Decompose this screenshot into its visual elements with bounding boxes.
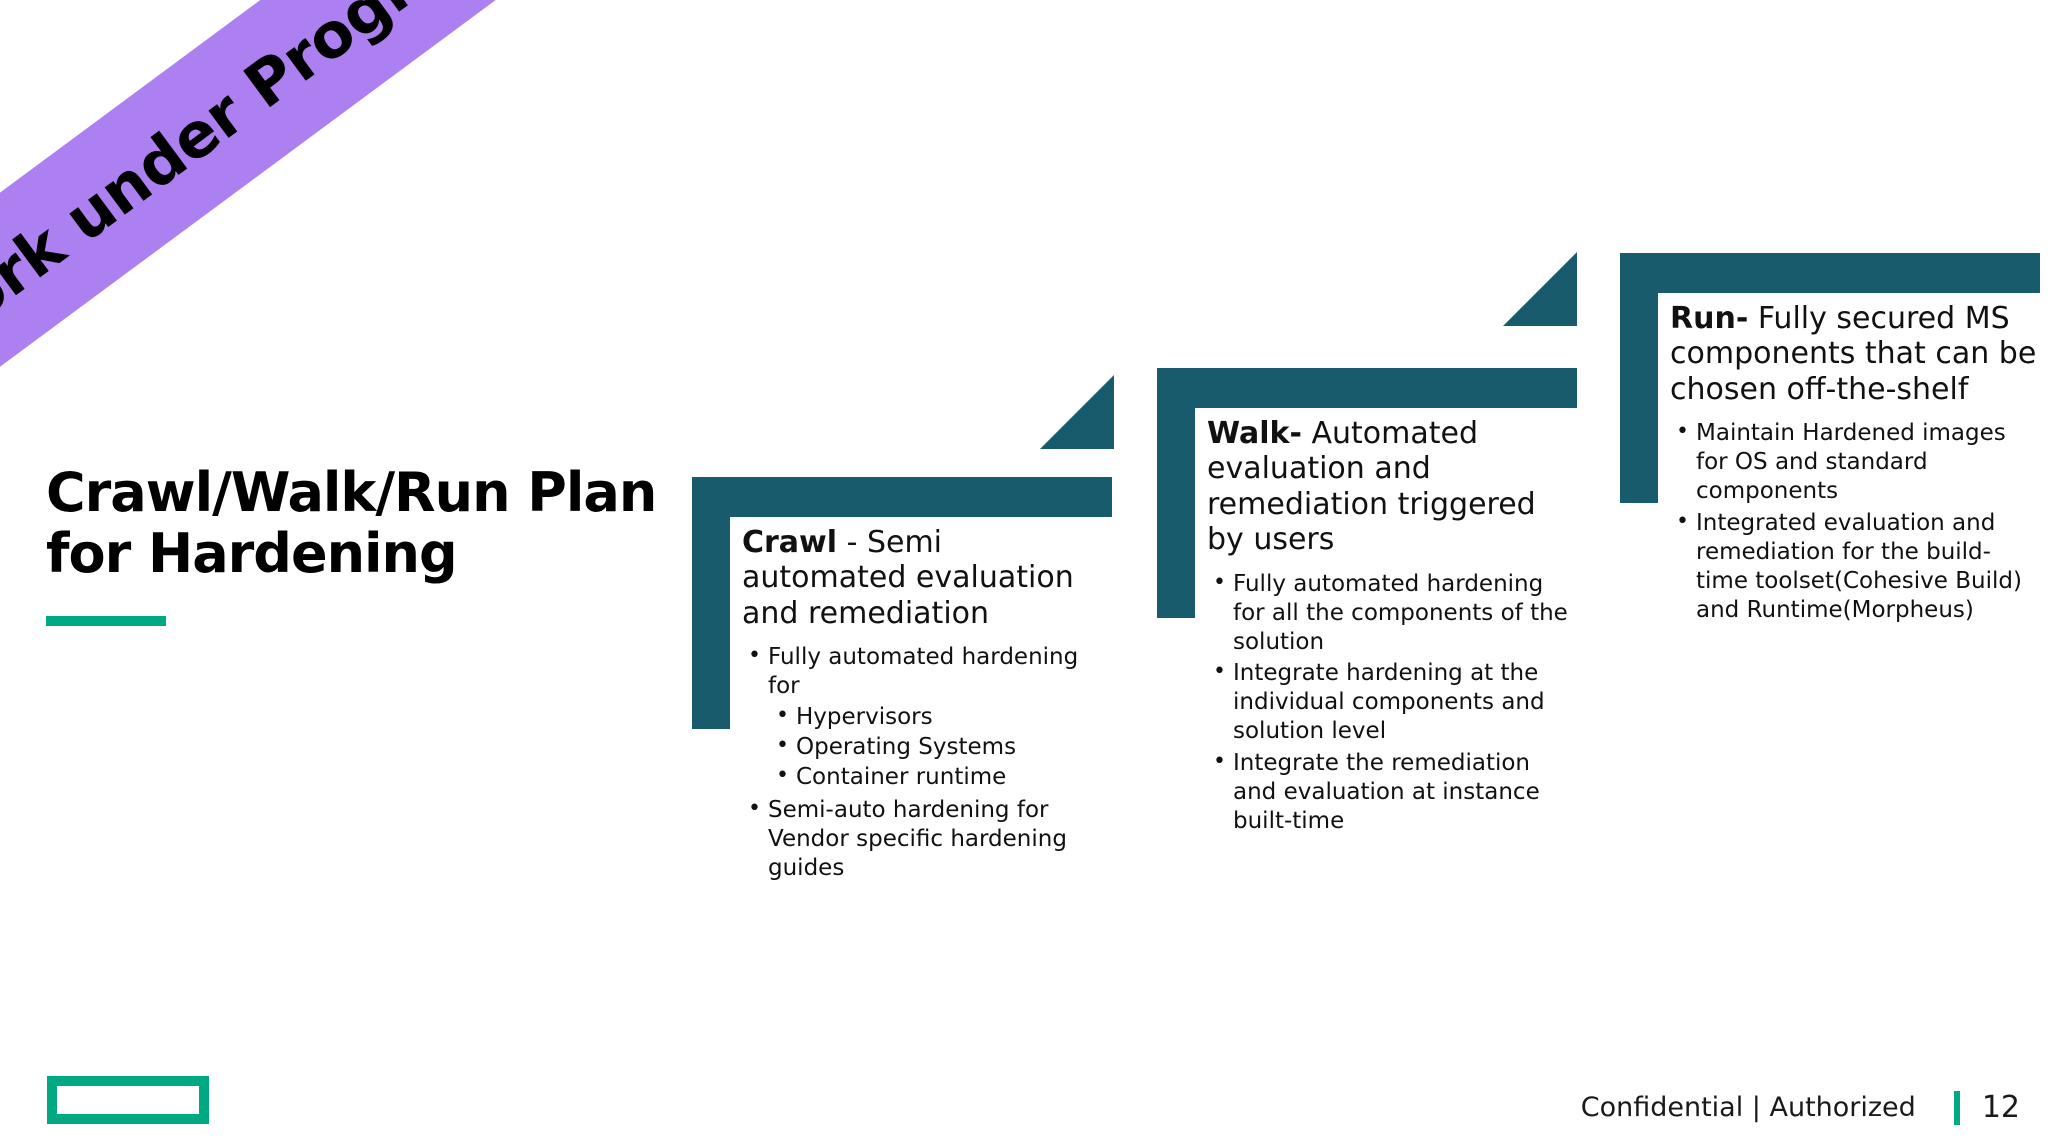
step-triangle-crawl-to-walk — [1040, 375, 1114, 449]
stage-card-crawl[interactable]: Crawl - Semi automated evaluation and re… — [692, 477, 1112, 797]
walk-bracket-top — [1157, 368, 1577, 408]
run-bracket-arm — [1620, 253, 1658, 503]
crawl-bullet-1: Fully automated hardening for Hypervisor… — [742, 643, 1112, 793]
run-body: Run- Fully secured MS components that ca… — [1670, 301, 2040, 628]
walk-heading: Walk- Automated evaluation and remediati… — [1207, 416, 1577, 558]
footer: Confidential | Authorized 12 — [1581, 1090, 2020, 1125]
hpe-logo — [47, 1076, 209, 1124]
page-title: Crawl/Walk/Run Plan for Hardening — [46, 462, 666, 584]
walk-bullet-1: Fully automated hardening for all the co… — [1207, 570, 1577, 657]
crawl-sublist: Hypervisors Operating Systems Container … — [768, 703, 1112, 793]
run-bullet-list: Maintain Hardened images for OS and stan… — [1670, 419, 2040, 625]
title-block: Crawl/Walk/Run Plan for Hardening — [46, 462, 666, 626]
run-bracket-top — [1620, 253, 2040, 293]
walk-heading-bold: Walk- — [1207, 416, 1302, 451]
crawl-bullet-1-text: Fully automated hardening for — [768, 644, 1078, 699]
step-triangle-walk-to-run — [1503, 252, 1577, 326]
crawl-bracket-top — [692, 477, 1112, 517]
walk-bullet-3: Integrate the remediation and evaluation… — [1207, 749, 1577, 836]
footer-page-number: 12 — [1982, 1090, 2020, 1125]
stage-card-walk[interactable]: Walk- Automated evaluation and remediati… — [1157, 368, 1577, 728]
footer-divider — [1954, 1091, 1960, 1125]
slide-canvas: Work under Progress Crawl/Walk/Run Plan … — [0, 0, 2050, 1141]
walk-bracket-arm — [1157, 368, 1195, 618]
run-heading-bold: Run- — [1670, 301, 1748, 336]
page-title-line-1: Crawl/Walk/Run Plan — [46, 461, 656, 524]
crawl-bullet-2: Semi-auto hardening for Vendor specific … — [742, 796, 1112, 883]
crawl-heading: Crawl - Semi automated evaluation and re… — [742, 525, 1112, 631]
crawl-body: Crawl - Semi automated evaluation and re… — [742, 525, 1112, 886]
crawl-bullet-list: Fully automated hardening for Hypervisor… — [742, 643, 1112, 883]
work-under-progress-banner: Work under Progress — [0, 0, 496, 369]
crawl-subbullet-2: Operating Systems — [768, 733, 1112, 763]
walk-body: Walk- Automated evaluation and remediati… — [1207, 416, 1577, 839]
walk-bullet-2: Integrate hardening at the individual co… — [1207, 659, 1577, 746]
crawl-bracket-arm — [692, 477, 730, 729]
run-bullet-2: Integrated evaluation and remediation fo… — [1670, 509, 2040, 625]
crawl-heading-bold: Crawl — [742, 525, 837, 560]
crawl-subbullet-3: Container runtime — [768, 763, 1112, 793]
page-title-line-2: for Hardening — [46, 522, 457, 585]
run-bullet-1: Maintain Hardened images for OS and stan… — [1670, 419, 2040, 506]
footer-confidential-label: Confidential | Authorized — [1581, 1092, 1916, 1123]
work-under-progress-label: Work under Progress — [0, 0, 520, 374]
run-heading: Run- Fully secured MS components that ca… — [1670, 301, 2040, 407]
stage-card-run[interactable]: Run- Fully secured MS components that ca… — [1620, 253, 2040, 613]
title-accent-bar — [46, 616, 166, 626]
walk-bullet-list: Fully automated hardening for all the co… — [1207, 570, 1577, 837]
crawl-subbullet-1: Hypervisors — [768, 703, 1112, 733]
